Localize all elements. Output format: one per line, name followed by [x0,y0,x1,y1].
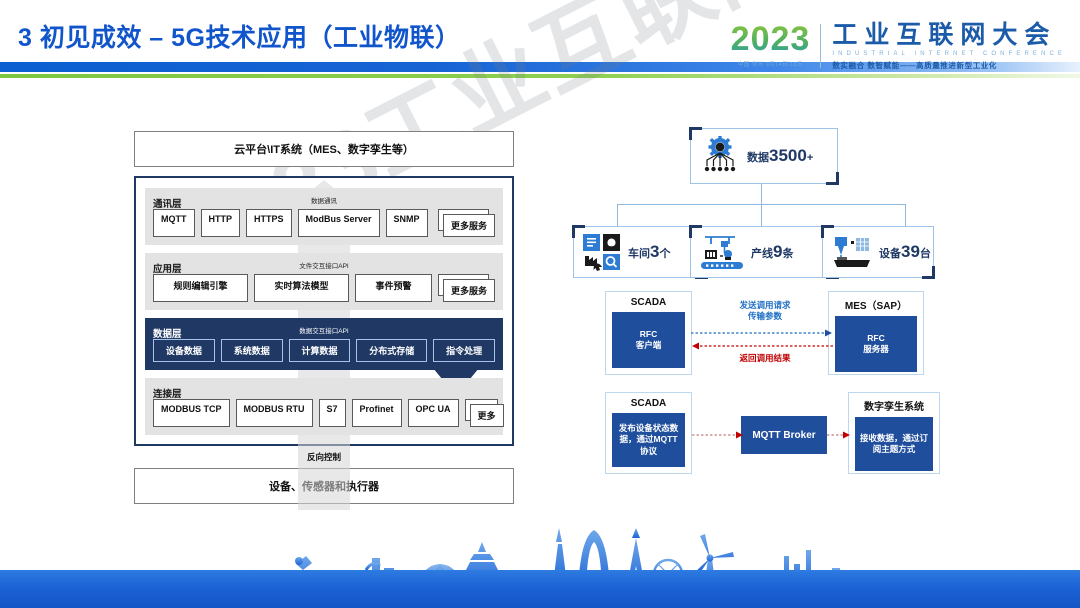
corner-bracket-bottom-right [922,266,935,279]
slide-root: 3 初见成效 – 5G技术应用（工业物联） 2023 中国·常州 9月14日-1… [0,0,1080,608]
chip-profinet[interactable]: Profinet [352,399,402,427]
stat-label-data: 数据3500+ [747,146,813,166]
layer-chip-row: 规则编辑引擎 实时算法模型 事件预警 更多服务 [153,274,495,302]
connector-branch-right [905,204,906,226]
logo-slogan: 数实融合 数智赋能——高质量推进新型工业化 [832,60,1066,71]
layer-application: 应用层 文件交互接口API 规则编辑引擎 实时算法模型 事件预警 更多服务 [145,253,503,310]
gear-network-icon [699,136,741,176]
arch-top-band: 云平台\IT系统（MES、数字孪生等） [134,131,514,167]
chip-device-data[interactable]: 设备数据 [153,339,215,362]
conference-logo: 2023 中国·常州 9月14日-16日 工业互联网大会 INDUSTRIAL … [731,22,1066,71]
header-green-rule [0,74,1080,78]
flow1-response-arrow-icon [691,342,833,350]
logo-name-cn: 工业互联网大会 [832,22,1066,49]
flow1-mes-title: MES（SAP） [829,292,923,316]
layer-data: 数据层 数据交互接口API 设备数据 系统数据 计算数据 分布式存储 指令处理 [145,318,503,370]
flow2-arrow-left-icon [692,431,744,439]
flow2-mqtt-broker[interactable]: MQTT Broker [741,416,827,454]
stat-card-data[interactable]: 数据3500+ [690,128,838,184]
corner-bracket-top-left [821,225,834,238]
layer-header: 应用层 文件交互接口API [153,259,495,274]
stat-card-production-line[interactable]: 产线9条 [690,226,838,278]
chip-modbus-server[interactable]: ModBus Server [298,209,380,237]
stat-card-workshop[interactable]: 车间3个 [573,226,707,278]
chip-event-alarm[interactable]: 事件预警 [355,274,432,302]
chip-rule-engine[interactable]: 规则编辑引擎 [153,274,248,302]
flow2-subscribe-text: 接收数据，通过订阅主题方式 [855,417,933,471]
layer-title: 连接层 [153,389,182,400]
stat-label-equipment: 设备39台 [879,242,931,262]
stat-card-equipment[interactable]: 设备39台 [822,226,934,278]
chip-more[interactable]: 更多 [470,404,504,427]
chip-more-stack[interactable]: 更多 [465,399,504,427]
layer-chip-row: MQTT HTTP HTTPS ModBus Server SNMP 更多服务 [153,209,495,237]
layer-header: 通讯层 数据通讯 [153,194,495,209]
layer-header: 连接层 [153,384,495,399]
chip-s7[interactable]: S7 [319,399,346,427]
connector-branch-left [617,204,618,226]
logo-name-en: INDUSTRIAL INTERNET CONFERENCE [832,51,1066,57]
connector-branch-middle [761,204,762,226]
arch-core: 通讯层 数据通讯 MQTT HTTP HTTPS ModBus Server S… [134,176,514,446]
flow2-publish-text: 发布设备状态数据，通过MQTT协议 [612,413,685,467]
layer-title: 通讯层 [153,199,182,210]
flow1-rfc-server: RFC服务器 [835,316,917,372]
chip-https[interactable]: HTTPS [246,209,292,237]
layer-connection: 连接层 MODBUS TCP MODBUS RTU S7 Profinet OP… [145,378,503,435]
flow2-digital-twin-box[interactable]: 数字孪生系统 接收数据，通过订阅主题方式 [848,392,940,474]
layer-api-label: 数据交互接口API [299,325,348,335]
layer-communication: 通讯层 数据通讯 MQTT HTTP HTTPS ModBus Server S… [145,188,503,245]
flow1-rfc-client: RFC客户端 [612,312,685,368]
reverse-control-label: 反向控制 [134,446,514,468]
page-title: 3 初见成效 – 5G技术应用（工业物联） [18,18,461,54]
chip-modbus-rtu[interactable]: MODBUS RTU [236,399,313,427]
production-line-icon [699,232,745,272]
layer-chip-row: MODBUS TCP MODBUS RTU S7 Profinet OPC UA… [153,399,495,427]
footer-blue-band [0,570,1080,608]
chip-compute-data[interactable]: 计算数据 [289,339,351,362]
layer-chip-row: 设备数据 系统数据 计算数据 分布式存储 指令处理 [153,339,495,362]
chip-more-services-stack[interactable]: 更多服务 [438,274,495,302]
corner-bracket-bottom-right [826,172,839,185]
flow2-arrow-right-icon [827,431,851,439]
architecture-diagram: 云平台\IT系统（MES、数字孪生等） 通讯层 数据通讯 MQTT HTTP H… [134,131,514,504]
connector-root-stem [761,182,762,204]
logo-year: 2023 [731,22,811,56]
corner-bracket-top-left [572,225,585,238]
flow1-mes-box[interactable]: MES（SAP） RFC服务器 [828,291,924,375]
stat-label-production-line: 产线9条 [751,242,793,262]
chip-realtime-algorithm-model[interactable]: 实时算法模型 [254,274,349,302]
workshop-icon [582,233,622,271]
flow1-request-label: 发送调用请求传输参数 [715,300,815,322]
flow1-request-arrow-icon [691,329,833,337]
chip-opc-ua[interactable]: OPC UA [408,399,459,427]
chip-mqtt[interactable]: MQTT [153,209,195,237]
logo-year-sub: 中国·常州 9月14日-16日 [731,60,811,68]
flow1-response-label: 返回调用结果 [715,353,815,364]
footer-decoration [0,516,1080,608]
chip-system-data[interactable]: 系统数据 [221,339,283,362]
logo-name-block: 工业互联网大会 INDUSTRIAL INTERNET CONFERENCE 数… [821,22,1066,71]
chip-distributed-storage[interactable]: 分布式存储 [356,339,427,362]
chip-more-services-stack[interactable]: 更多服务 [438,209,495,237]
chip-more-services[interactable]: 更多服务 [443,279,495,302]
layer-api-label: 文件交互接口API [299,260,348,270]
flow1-scada-title: SCADA [606,292,691,312]
chip-command-processing[interactable]: 指令处理 [433,339,495,362]
flow2-scada-title: SCADA [606,393,691,413]
chip-more-services[interactable]: 更多服务 [443,214,495,237]
logo-year-block: 2023 中国·常州 9月14日-16日 [731,22,821,68]
flow1-scada-box[interactable]: SCADA RFC客户端 [605,291,692,375]
layer-api-label: 数据通讯 [311,195,337,205]
layer-header: 数据层 数据交互接口API [153,324,495,339]
chip-snmp[interactable]: SNMP [386,209,428,237]
layer-title: 数据层 [153,329,182,340]
flow2-digital-twin-title: 数字孪生系统 [849,393,939,417]
right-panel: 数据3500+ 车间3个 [565,120,1065,500]
stat-label-workshop: 车间3个 [628,242,670,262]
equipment-icon [831,233,873,271]
corner-bracket-top-left [689,127,702,140]
flow2-scada-box[interactable]: SCADA 发布设备状态数据，通过MQTT协议 [605,392,692,474]
chip-modbus-tcp[interactable]: MODBUS TCP [153,399,230,427]
layer-title: 应用层 [153,264,182,275]
chip-http[interactable]: HTTP [201,209,241,237]
corner-bracket-top-left [689,225,702,238]
